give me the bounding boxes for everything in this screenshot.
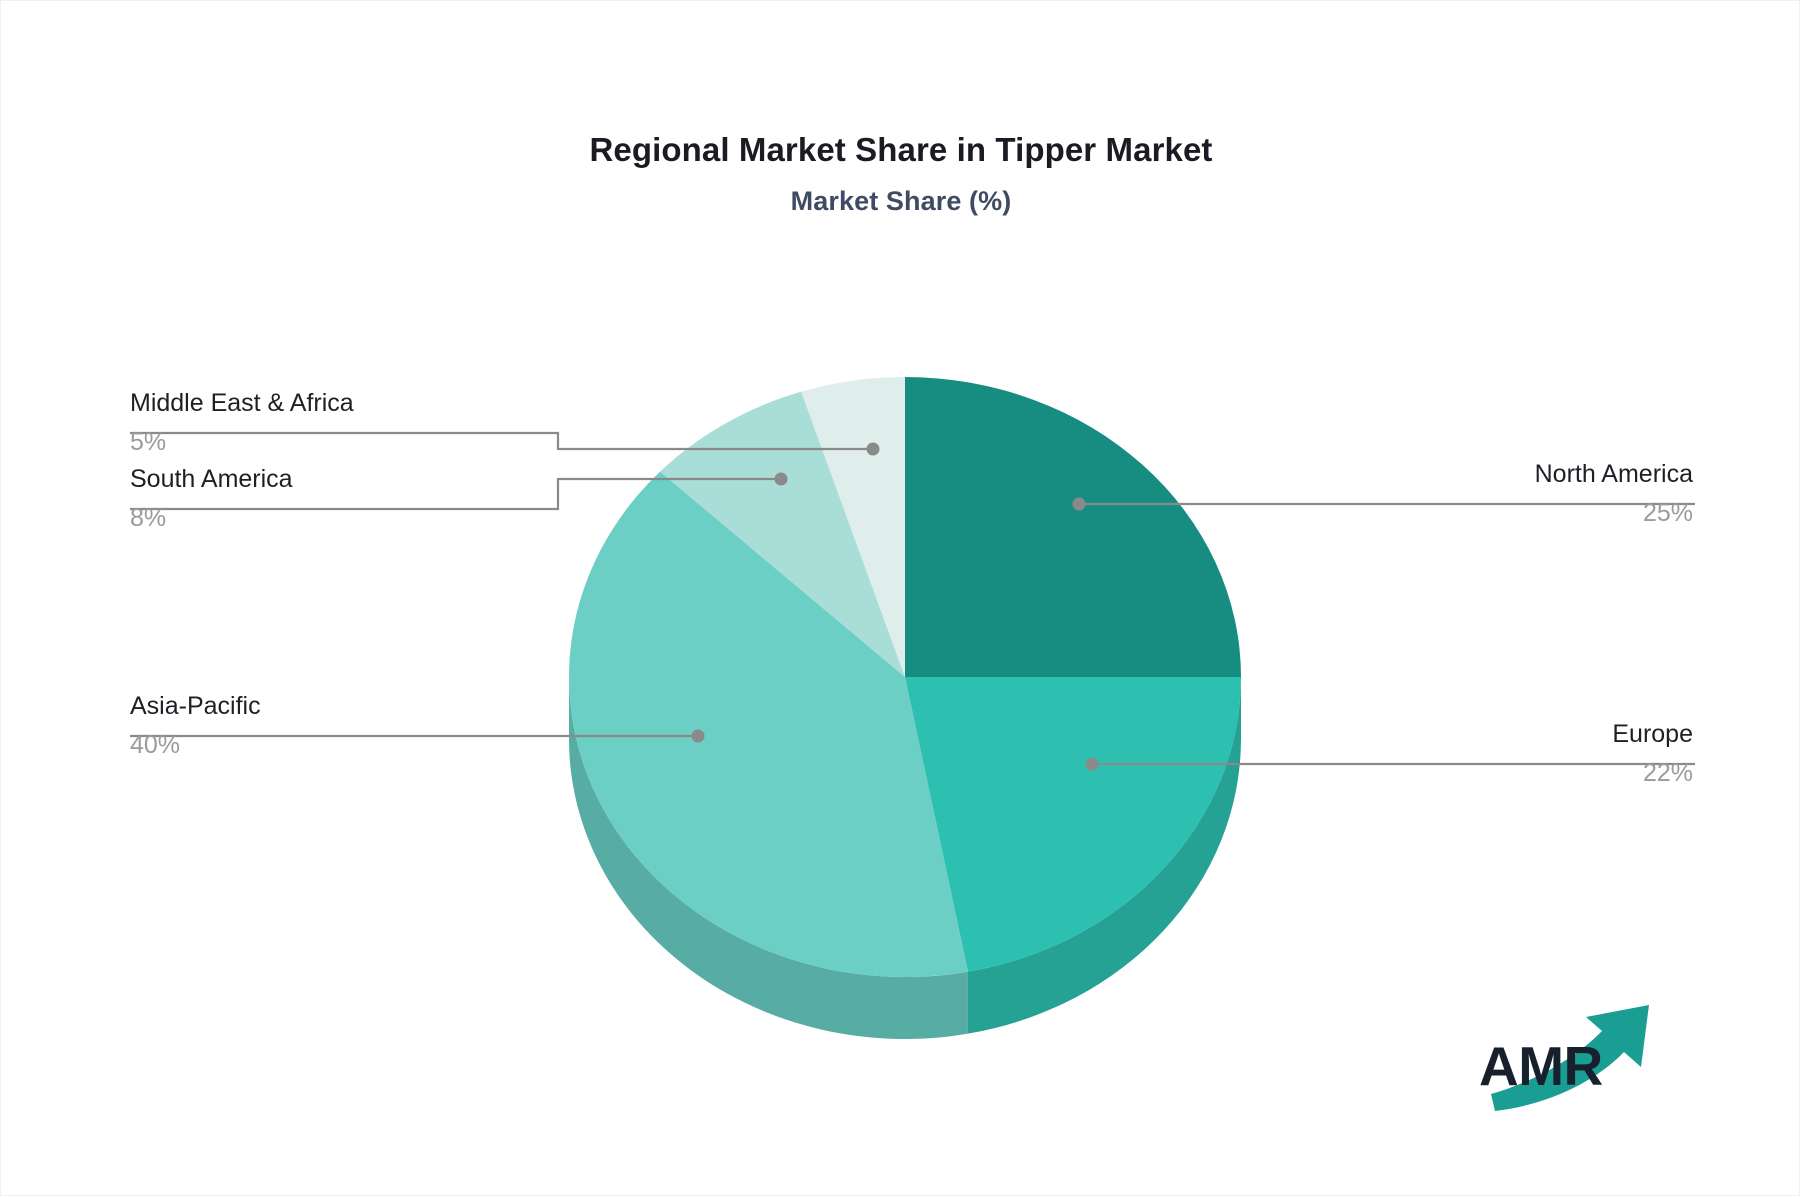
pie-label-middle-east-africa: Middle East & Africa bbox=[130, 391, 354, 416]
leader-dot-north-america bbox=[1073, 498, 1086, 511]
pie-value-asia-pacific: 40% bbox=[130, 733, 180, 758]
leader-dot-middle-east-africa bbox=[867, 443, 880, 456]
pie-value-europe: 22% bbox=[1643, 761, 1693, 786]
pie-label-south-america: South America bbox=[130, 467, 293, 492]
leader-dot-south-america bbox=[775, 473, 788, 486]
amr-logo: AMR bbox=[1479, 1029, 1659, 1109]
pie-value-north-america: 25% bbox=[1643, 501, 1693, 526]
amr-logo-text: AMR bbox=[1479, 1039, 1603, 1094]
pie-slice-north-america[interactable] bbox=[905, 377, 1241, 677]
pie-label-north-america: North America bbox=[1535, 462, 1693, 487]
pie-top-face bbox=[569, 377, 1241, 977]
leader-dot-europe bbox=[1086, 758, 1099, 771]
pie-value-south-america: 8% bbox=[130, 506, 166, 531]
pie-value-middle-east-africa: 5% bbox=[130, 430, 166, 455]
pie-label-asia-pacific: Asia-Pacific bbox=[130, 694, 261, 719]
leader-dot-asia-pacific bbox=[692, 730, 705, 743]
chart-canvas: Regional Market Share in Tipper Market M… bbox=[0, 0, 1800, 1196]
pie-label-europe: Europe bbox=[1612, 722, 1693, 747]
pie-chart-graphic bbox=[1, 1, 1800, 1197]
